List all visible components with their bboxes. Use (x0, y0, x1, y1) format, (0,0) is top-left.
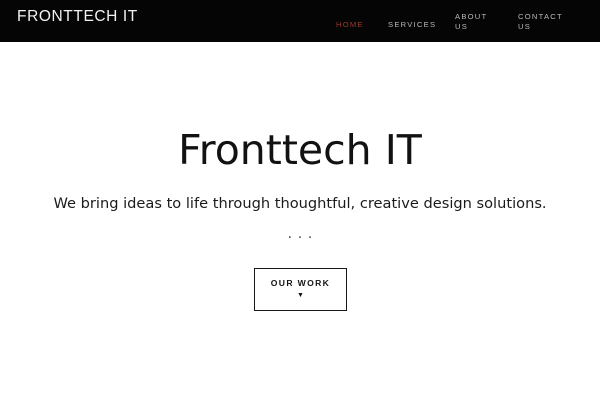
main-navigation: HOME SERVICES ABOUT US CONTACT US (320, 0, 600, 42)
nav-item-contact-us-label-line1: CONTACT (518, 12, 563, 22)
hero-section: Fronttech IT We bring ideas to life thro… (0, 42, 600, 400)
hero-tagline: We bring ideas to life through thoughtfu… (0, 194, 600, 214)
nav-item-about-us[interactable]: ABOUT US (455, 12, 487, 31)
page-title: Fronttech IT (0, 126, 600, 174)
nav-item-services[interactable]: SERVICES (388, 20, 436, 30)
nav-item-about-us-label-line1: ABOUT (455, 12, 487, 22)
site-logo[interactable]: FRONTTECH IT (17, 8, 138, 26)
nav-item-contact-us[interactable]: CONTACT US (518, 12, 563, 31)
nav-item-contact-us-label-line2: US (518, 22, 563, 32)
nav-item-home-label: HOME (336, 20, 364, 30)
nav-item-about-us-label-line2: US (455, 22, 487, 32)
our-work-button-label: OUR WORK (271, 278, 331, 289)
site-header: FRONTTECH IT HOME SERVICES ABOUT US CONT… (0, 0, 600, 42)
our-work-button[interactable]: OUR WORK ▼ (254, 268, 347, 311)
hero-dots-separator: ... (0, 227, 600, 243)
nav-item-services-label: SERVICES (388, 20, 436, 30)
chevron-down-icon: ▼ (297, 290, 304, 301)
nav-item-home[interactable]: HOME (336, 20, 364, 30)
